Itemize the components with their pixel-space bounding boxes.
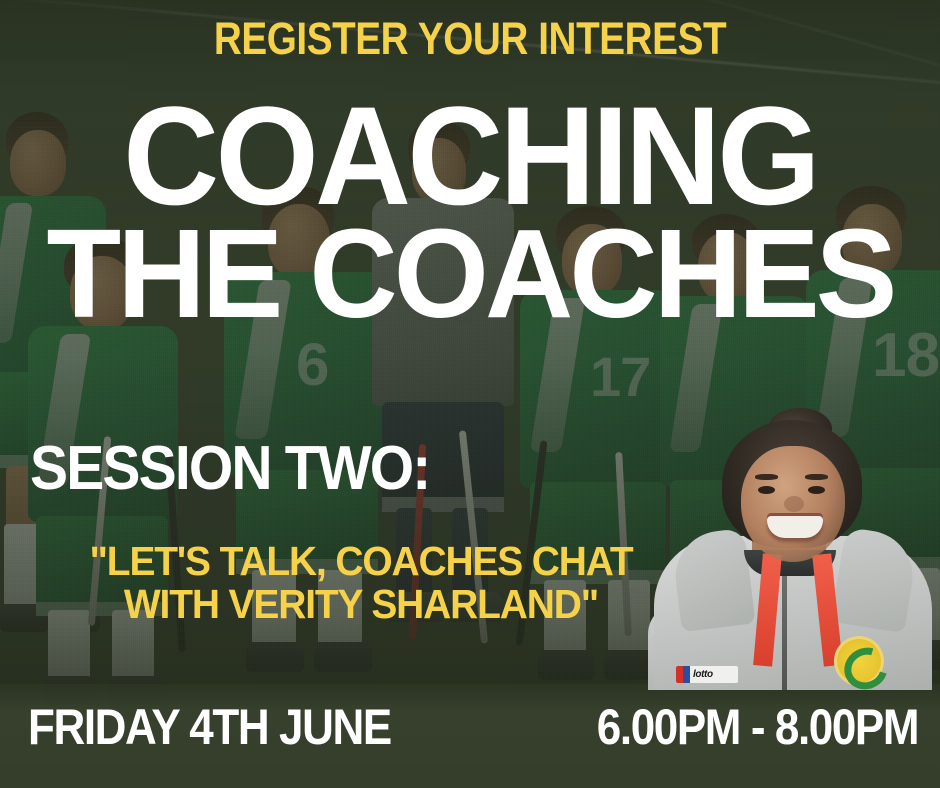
session-label: SESSION TWO: bbox=[30, 438, 429, 500]
portrait-eye-right bbox=[808, 486, 825, 494]
lotto-logo-mark bbox=[676, 666, 690, 683]
event-time: 6.00PM - 8.00PM bbox=[597, 702, 918, 752]
lotto-logo-text: lotto bbox=[690, 669, 713, 680]
portrait-hoodie-zip bbox=[782, 558, 787, 690]
kicker-register-your-interest: REGISTER YOUR INTEREST bbox=[66, 16, 874, 61]
quote-line-1: "LET'S TALK, COACHES CHAT bbox=[18, 540, 704, 583]
club-crest-icon bbox=[834, 636, 884, 686]
portrait-nose bbox=[784, 496, 804, 512]
title-line-the-coaches: THE COACHES bbox=[14, 220, 926, 328]
quote-line-2: WITH VERITY SHARLAND" bbox=[18, 583, 704, 626]
portrait-hood-right bbox=[831, 527, 919, 633]
portrait-eyebrow-right bbox=[805, 474, 828, 480]
title-line-coaching: COACHING bbox=[24, 96, 917, 216]
page-title: COACHING THE COACHES bbox=[0, 96, 940, 329]
portrait-eye-left bbox=[758, 486, 775, 494]
promo-poster: 6 17 bbox=[0, 0, 940, 788]
event-date: FRIDAY 4TH JUNE bbox=[28, 702, 391, 752]
lotto-brand-logo: lotto bbox=[676, 666, 738, 683]
portrait-smile bbox=[767, 516, 823, 538]
session-title-quote: "LET'S TALK, COACHES CHAT WITH VERITY SH… bbox=[0, 540, 722, 625]
portrait-eyebrow-left bbox=[755, 474, 778, 480]
